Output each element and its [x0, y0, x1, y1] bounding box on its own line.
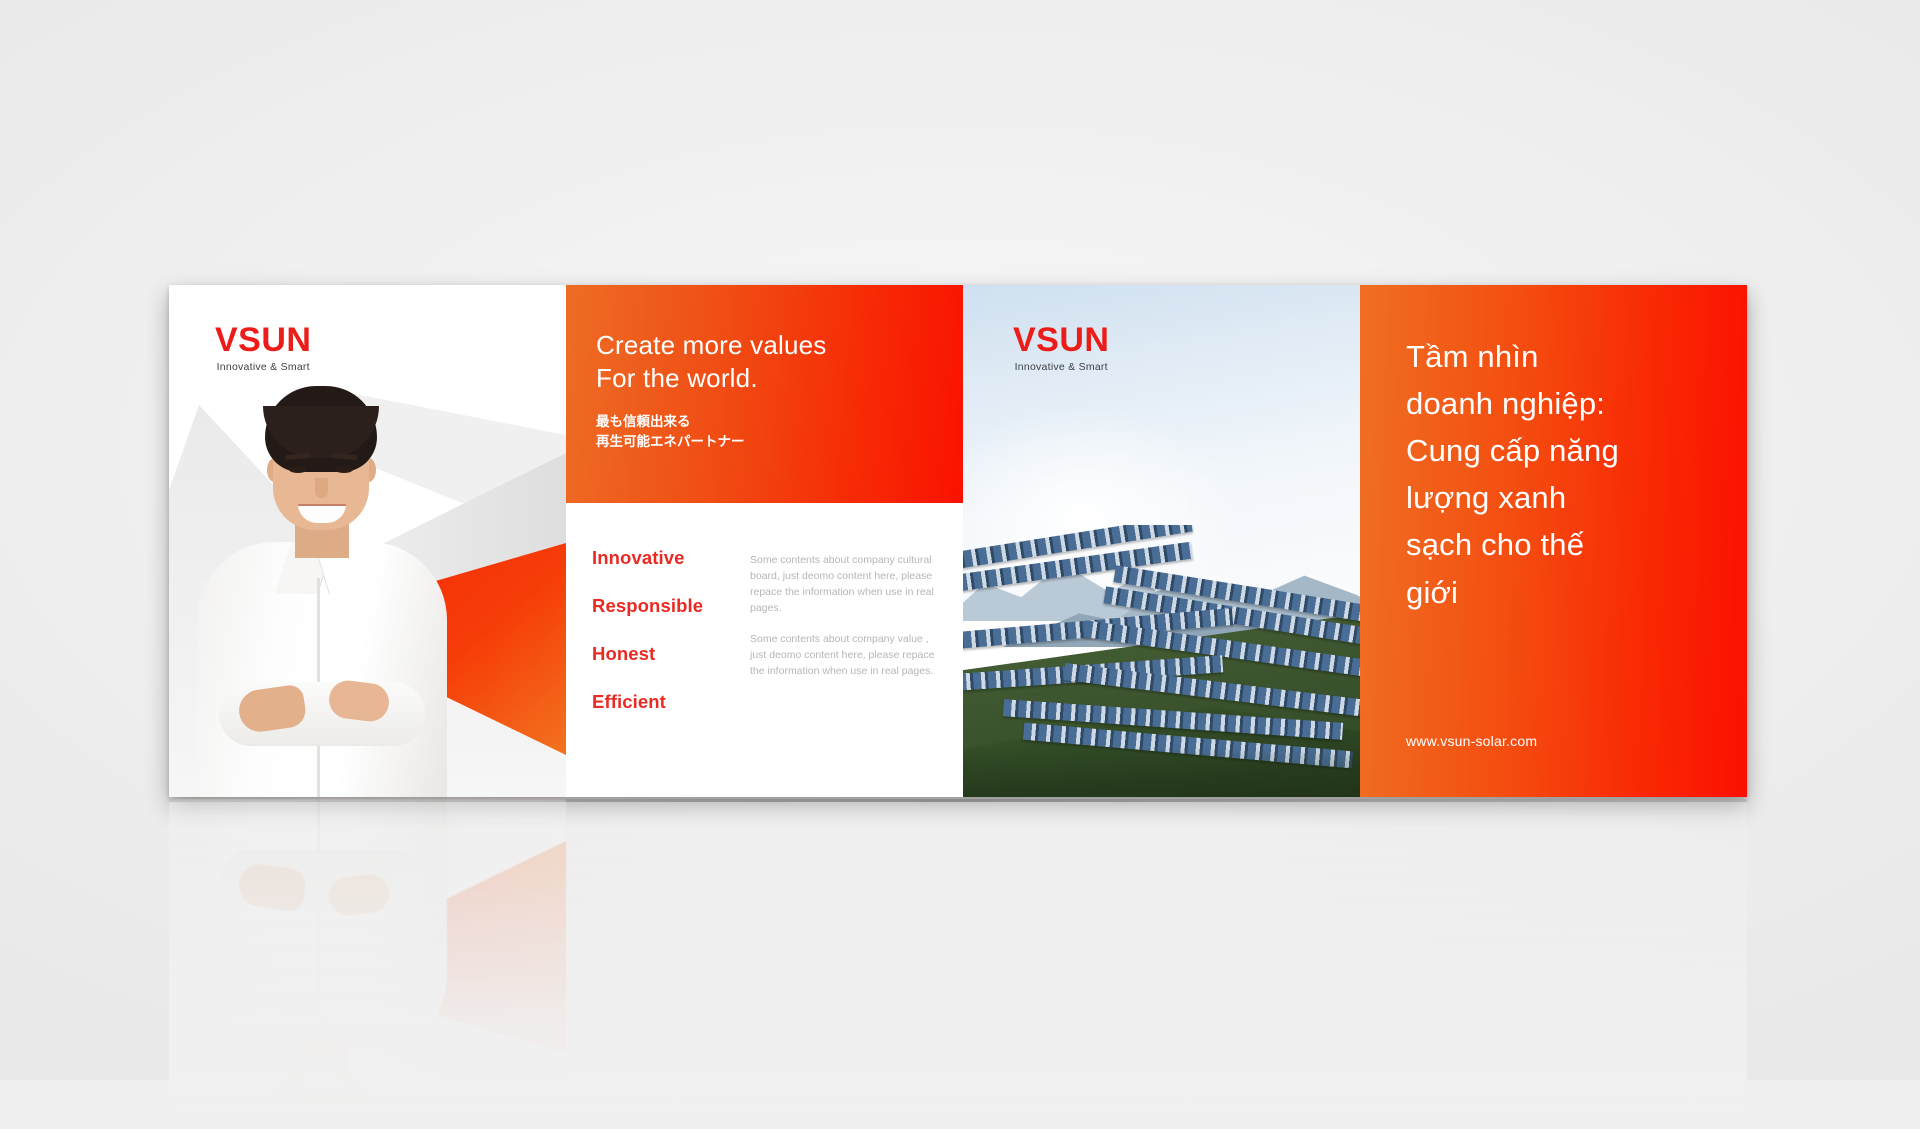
- message-hero-block: Create more values For the world. 最も信頼出来…: [566, 285, 963, 503]
- brochure-card-wrapper: VSUN Innovative & Smart Create more valu…: [169, 285, 1747, 797]
- subheadline-jp-line-1: 最も信頼出来る: [596, 412, 933, 433]
- body-paragraph: Some contents about company cultural boa…: [750, 553, 937, 617]
- subheadline-japanese: 最も信頼出来る 再生可能エネパートナー: [596, 412, 933, 454]
- vsun-logo-secondary: VSUN Innovative & Smart: [1013, 323, 1109, 373]
- brochure-card: VSUN Innovative & Smart Create more valu…: [169, 285, 1747, 797]
- vision-line: lượng xanh: [1406, 474, 1701, 521]
- portrait-figure: [179, 382, 479, 797]
- message-panel: Create more values For the world. 最も信頼出来…: [566, 285, 963, 797]
- foreground-shadow: [963, 747, 1360, 797]
- vision-line: Tầm nhìn: [1406, 333, 1701, 380]
- vsun-logo-wordmark: VSUN: [1013, 323, 1109, 357]
- vision-line: Cung cấp năng: [1406, 427, 1701, 474]
- value-item: Efficient: [592, 691, 734, 713]
- body-paragraphs: Some contents about company cultural boa…: [734, 547, 937, 797]
- headline-line-2: For the world.: [596, 362, 933, 395]
- core-values-list: Innovative Responsible Honest Efficient: [592, 547, 734, 797]
- vision-line: doanh nghiệp:: [1406, 380, 1701, 427]
- vision-headline: Tầm nhìn doanh nghiệp: Cung cấp năng lượ…: [1406, 333, 1701, 616]
- vsun-logo-wordmark: VSUN: [215, 323, 311, 357]
- website-url[interactable]: www.vsun-solar.com: [1406, 733, 1537, 749]
- vision-line: giới: [1406, 569, 1701, 616]
- message-body-block: Innovative Responsible Honest Efficient …: [566, 503, 963, 797]
- value-item: Responsible: [592, 595, 734, 617]
- vision-statement-panel: Tầm nhìn doanh nghiệp: Cung cấp năng lượ…: [1360, 285, 1747, 797]
- body-paragraph: Some contents about company value , just…: [750, 632, 937, 680]
- vsun-logo-primary: VSUN Innovative & Smart: [215, 323, 311, 373]
- vsun-logo-tagline: Innovative & Smart: [215, 361, 311, 373]
- vsun-logo-tagline: Innovative & Smart: [1013, 361, 1109, 373]
- value-item: Honest: [592, 643, 734, 665]
- headline-line-1: Create more values: [596, 329, 933, 362]
- person-portrait-panel: VSUN Innovative & Smart: [169, 285, 566, 797]
- headline-english: Create more values For the world.: [596, 329, 933, 395]
- subheadline-jp-line-2: 再生可能エネパートナー: [596, 432, 933, 453]
- solar-farm-image: [963, 525, 1360, 797]
- value-item: Innovative: [592, 547, 734, 569]
- vision-line: sạch cho thế: [1406, 521, 1701, 568]
- solar-farm-photo-panel: VSUN Innovative & Smart: [963, 285, 1360, 797]
